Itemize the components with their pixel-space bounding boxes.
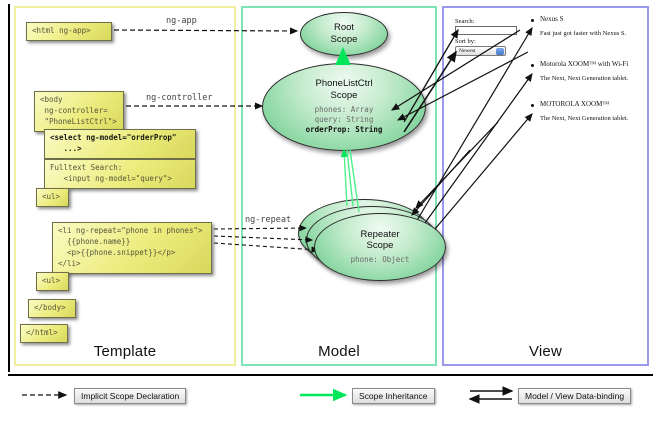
scope-phonelistctrl: PhoneListCtrlScope phones: Array query: … xyxy=(262,63,426,151)
panel-model: Model xyxy=(241,6,437,366)
legend-item-implicit: Implicit Scope Declaration xyxy=(74,388,186,404)
code-box-html-close: </html> xyxy=(20,324,68,343)
panel-model-label: Model xyxy=(243,343,435,360)
canvas-bottom-rule xyxy=(8,374,653,376)
view-phone-name: Motorola XOOM™ with Wi-Fi xyxy=(540,60,628,68)
scope-repeater-props: phone: Object xyxy=(351,255,410,265)
panel-view-label: View xyxy=(444,343,647,360)
arrow-label-ng-repeat: ng-repeat xyxy=(245,215,291,225)
scope-repeater: RepeaterScope phone: Object xyxy=(314,213,446,281)
view-sort-selected-value: Newest xyxy=(459,48,476,54)
chevron-down-icon xyxy=(496,48,504,55)
code-box-search: Fulltext Search: <input ng-model="query"… xyxy=(44,159,196,189)
code-box-html: <html ng-app> xyxy=(26,22,112,41)
view-phone-name: MOTOROLA XOOM™ xyxy=(540,100,609,108)
code-box-li-repeat: <li ng-repeat="phone in phones"> {{phone… xyxy=(52,222,212,274)
view-search-label: Search: xyxy=(455,18,475,25)
legend: Implicit Scope Declaration Scope Inherit… xyxy=(0,381,661,423)
legend-item-inheritance: Scope Inheritance xyxy=(352,388,435,404)
view-phone-snippet: Fast just got faster with Nexus S. xyxy=(540,30,626,37)
scope-repeater-title: RepeaterScope xyxy=(360,229,399,253)
canvas-left-rule xyxy=(8,4,10,372)
scope-root-title: RootScope xyxy=(331,22,358,46)
view-phone-bullet xyxy=(531,104,534,107)
code-box-ul-open: <ul> xyxy=(36,188,69,207)
view-phone-name: Nexus S xyxy=(540,15,564,23)
view-phone-snippet: The Next, Next Generation tablet. xyxy=(540,115,628,122)
view-search-input[interactable] xyxy=(455,26,517,35)
diagram-canvas: Template Model View <html ng-app> <body … xyxy=(0,0,661,425)
arrow-label-ng-controller: ng-controller xyxy=(146,93,213,103)
panel-template-label: Template xyxy=(16,343,234,360)
scope-root: RootScope xyxy=(300,12,388,56)
scope-phonelistctrl-title: PhoneListCtrlScope xyxy=(315,78,372,102)
code-box-body: <body ng-controller= "PhoneListCtrl"> xyxy=(34,91,124,132)
view-sort-label: Sort by: xyxy=(455,38,476,45)
code-box-body-close: </body> xyxy=(28,299,76,318)
code-box-ul-close: <ul> xyxy=(36,272,69,291)
legend-item-binding: Model / View Data-binding xyxy=(518,388,631,404)
code-box-select: <select ng-model="orderProp" ...> xyxy=(44,129,196,159)
arrow-label-ng-app: ng-app xyxy=(166,16,197,26)
view-phone-snippet: The Next, Next Generation tablet. xyxy=(540,75,628,82)
view-phone-bullet xyxy=(531,64,534,67)
view-phone-bullet xyxy=(531,19,534,22)
view-sort-select[interactable]: Newest xyxy=(455,46,506,56)
scope-phonelistctrl-props: phones: Array query: String orderProp: S… xyxy=(306,105,383,135)
